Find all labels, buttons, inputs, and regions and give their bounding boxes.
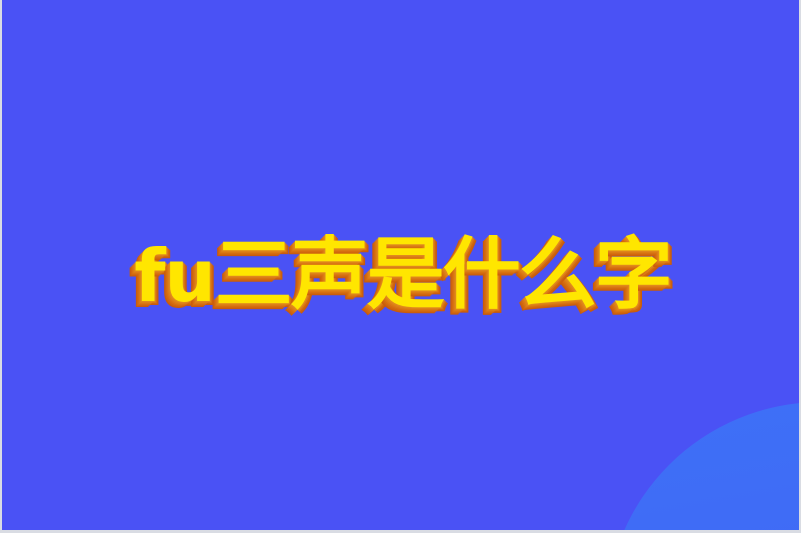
- headline-container: fu三声是什么字: [2, 0, 801, 533]
- headline-cjk-segment: 三声是什么字: [215, 230, 671, 320]
- headline-latin-segment: fu: [134, 234, 215, 318]
- banner-canvas: fu三声是什么字: [0, 0, 801, 533]
- headline-text: fu三声是什么字: [134, 236, 671, 314]
